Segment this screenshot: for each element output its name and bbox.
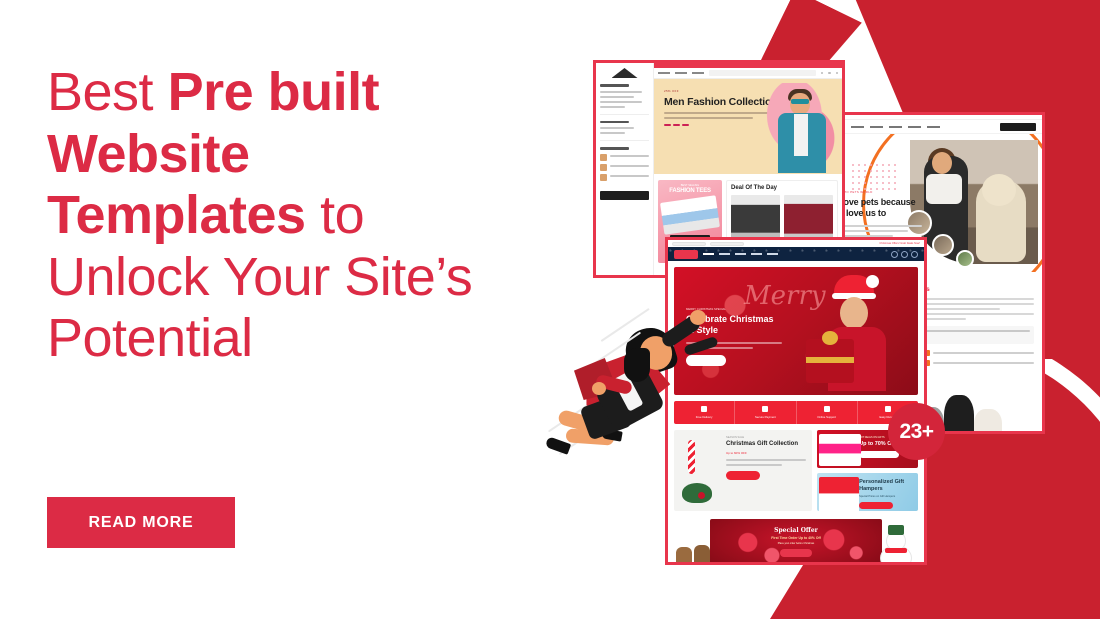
christmas-navbar[interactable]: [668, 247, 924, 261]
account-icon[interactable]: [901, 251, 908, 258]
topbar-phone: [710, 242, 744, 246]
fashion-sidebar-link[interactable]: [600, 101, 642, 103]
nav-item-pages[interactable]: [735, 253, 746, 255]
fashion-order-item[interactable]: [600, 164, 649, 171]
product-image: [784, 195, 833, 243]
nav-item-home[interactable]: [703, 253, 714, 255]
nav-item[interactable]: [675, 72, 687, 74]
banner-title: Special Offer: [710, 527, 882, 534]
fashion-navbar[interactable]: [654, 68, 842, 79]
read-more-button[interactable]: READ MORE: [47, 497, 235, 548]
account-icon[interactable]: [821, 72, 824, 75]
pet-cat-white: [974, 409, 1002, 434]
fashion-hero-copy: [664, 112, 769, 119]
product-thumb-icon: [600, 174, 607, 181]
headline-bold-3: Templates: [47, 185, 306, 245]
hamper-image: [819, 477, 859, 511]
christmas-hero: Merry MERRY CHRISTMAS SPECIAL Celebrate …: [674, 267, 918, 395]
sunglasses-icon: [791, 99, 809, 104]
tees-title: FASHION TEES: [662, 188, 718, 194]
fashion-sidebar-heading-last-orders: [600, 147, 629, 150]
pets-feature-item: [924, 350, 1034, 356]
divider: [600, 140, 649, 141]
gift-subtitle: Up to 60% OFF: [726, 451, 806, 455]
headline-plain-4: Unlock Your Site’s: [47, 247, 472, 307]
tees-kicker: BEST SELLING: [662, 184, 718, 187]
gallery-circle-thumb[interactable]: [932, 234, 954, 256]
deal-title: Deal Of The Day: [731, 185, 833, 191]
cart-icon[interactable]: [911, 251, 918, 258]
return-arrow-icon: [885, 406, 891, 412]
promo2-button[interactable]: [859, 502, 893, 509]
snowman-hat-icon: [888, 525, 904, 535]
model-shirt: [794, 114, 808, 156]
christmas-feature-bar: Free Delivery Secure Payment Online Supp…: [674, 401, 918, 424]
christmas-topbar: Christmas Offers! Grab Deals Now!: [668, 240, 924, 247]
fashion-sidebar-heading-quick-action: [600, 121, 629, 124]
fashion-hero: 25% OFF Men Fashion Collection: [654, 79, 842, 174]
fashion-sidebar-link[interactable]: [600, 91, 642, 93]
nav-item-about[interactable]: [851, 126, 864, 128]
headline-bold-2: Website: [47, 124, 250, 184]
flying-superhero-illustration: [540, 290, 710, 490]
nav-item-shop[interactable]: [719, 253, 730, 255]
superhero-hair-strand: [624, 348, 650, 382]
nav-item-shop[interactable]: [927, 126, 940, 128]
dog-head: [982, 174, 1016, 206]
headline-plain-1: Best: [47, 62, 168, 122]
search-icon[interactable]: [891, 251, 898, 258]
headline-plain-5: Potential: [47, 308, 253, 368]
nav-item-contact[interactable]: [767, 253, 778, 255]
christmas-promo-hampers[interactable]: Personalized Gift Hampers Special Prices…: [817, 473, 918, 511]
christmas-special-offer-banner[interactable]: Special Offer First Time Order Up to 40%…: [674, 517, 918, 565]
promo2-title: Personalized Gift Hampers: [859, 479, 912, 493]
gallery-circle-thumb[interactable]: [956, 250, 974, 268]
gift-paragraph: [726, 459, 806, 466]
fashion-sidebar-heading-collections: [600, 84, 629, 87]
wishlist-icon[interactable]: [828, 72, 831, 75]
superhero-hand: [592, 382, 606, 395]
headline-line-1: Best Pre built: [47, 62, 567, 124]
pets-newsletter-button[interactable]: [1000, 123, 1036, 131]
gift-kicker: SEASON SALE: [726, 436, 806, 439]
headline-bold-1: Pre built: [168, 62, 380, 122]
headline-line-2: Website: [47, 124, 567, 186]
gift-title: Christmas Gift Collection: [726, 441, 806, 449]
poster-canvas: Best Pre built Website Templates to Unlo…: [0, 0, 1100, 619]
topbar-promo-text: Christmas Offers! Grab Deals Now!: [879, 242, 920, 245]
fashion-logo-icon: [612, 68, 638, 78]
promo1-button[interactable]: [859, 451, 899, 458]
fashion-quick-action[interactable]: [600, 132, 625, 134]
snowman-scarf: [885, 548, 907, 553]
banner-shop-now-button[interactable]: [780, 549, 812, 557]
page-title: Best Pre built Website Templates to Unlo…: [47, 62, 567, 370]
cart-icon[interactable]: [836, 72, 839, 75]
headline-line-5: Potential: [47, 308, 567, 370]
banner-note: Place your order before Christmas: [710, 542, 882, 545]
nav-item[interactable]: [658, 72, 670, 74]
woman-top: [926, 174, 962, 204]
fashion-order-item[interactable]: [600, 174, 649, 181]
snowman-image: [876, 523, 916, 565]
fashion-search-input[interactable]: [709, 70, 816, 76]
fashion-quick-action[interactable]: [600, 127, 634, 129]
fashion-sidebar: [596, 63, 654, 275]
shirt-stack-image: [660, 195, 720, 234]
gift-bow: [822, 331, 838, 345]
holly-berry-icon: [698, 492, 705, 499]
santa-hat-pompom: [866, 275, 879, 288]
banner-subtitle: First Time Order Up to 40% Off: [710, 536, 882, 540]
headline-line-3: Templates to: [47, 185, 567, 247]
banner-card: Special Offer First Time Order Up to 40%…: [710, 519, 882, 565]
pet-dog-black: [944, 395, 974, 434]
fashion-login-button[interactable]: [600, 191, 649, 200]
nav-item-reviews[interactable]: [908, 126, 921, 128]
product-thumb-icon: [600, 164, 607, 171]
model-face: [840, 297, 868, 329]
template-count-badge: 23+: [888, 403, 945, 460]
headline-line-4: Unlock Your Site’s: [47, 247, 567, 309]
reindeer-icon: [694, 545, 710, 565]
dot-pattern-decoration: [850, 162, 896, 192]
nav-item-services[interactable]: [870, 126, 883, 128]
superhero-fist: [690, 310, 706, 325]
nav-item-blogs[interactable]: [751, 253, 762, 255]
product-thumb-icon: [600, 154, 607, 161]
christmas-logo-icon[interactable]: [674, 250, 698, 259]
gift-boxes-image: [819, 434, 861, 466]
reindeer-icon: [676, 547, 692, 565]
feature-secure-payment: Secure Payment: [735, 401, 796, 424]
headline-plain-3: to: [306, 185, 365, 245]
product-image: [731, 195, 780, 243]
fashion-model-photo: [764, 83, 840, 174]
lock-icon: [762, 406, 768, 412]
nav-item-adopt[interactable]: [889, 126, 902, 128]
feature-online-support: Online Support: [797, 401, 858, 424]
fashion-sidebar-link[interactable]: [600, 96, 634, 98]
headset-icon: [824, 406, 830, 412]
topbar-hours: [672, 242, 706, 246]
pets-hero-photo: [910, 140, 1038, 264]
model-head: [790, 93, 810, 115]
promo2-subtitle: Special Prices on Gift Hampers: [859, 495, 912, 498]
nav-item[interactable]: [692, 72, 704, 74]
divider: [600, 114, 649, 115]
fashion-order-item[interactable]: [600, 154, 649, 161]
fashion-sidebar-link[interactable]: [600, 106, 625, 108]
pets-feature-item: [924, 360, 1034, 366]
woman-face: [932, 152, 952, 174]
gift-shop-now-button[interactable]: [726, 471, 760, 480]
gift-ribbon: [806, 357, 854, 363]
christmas-model-photo: [800, 273, 910, 391]
